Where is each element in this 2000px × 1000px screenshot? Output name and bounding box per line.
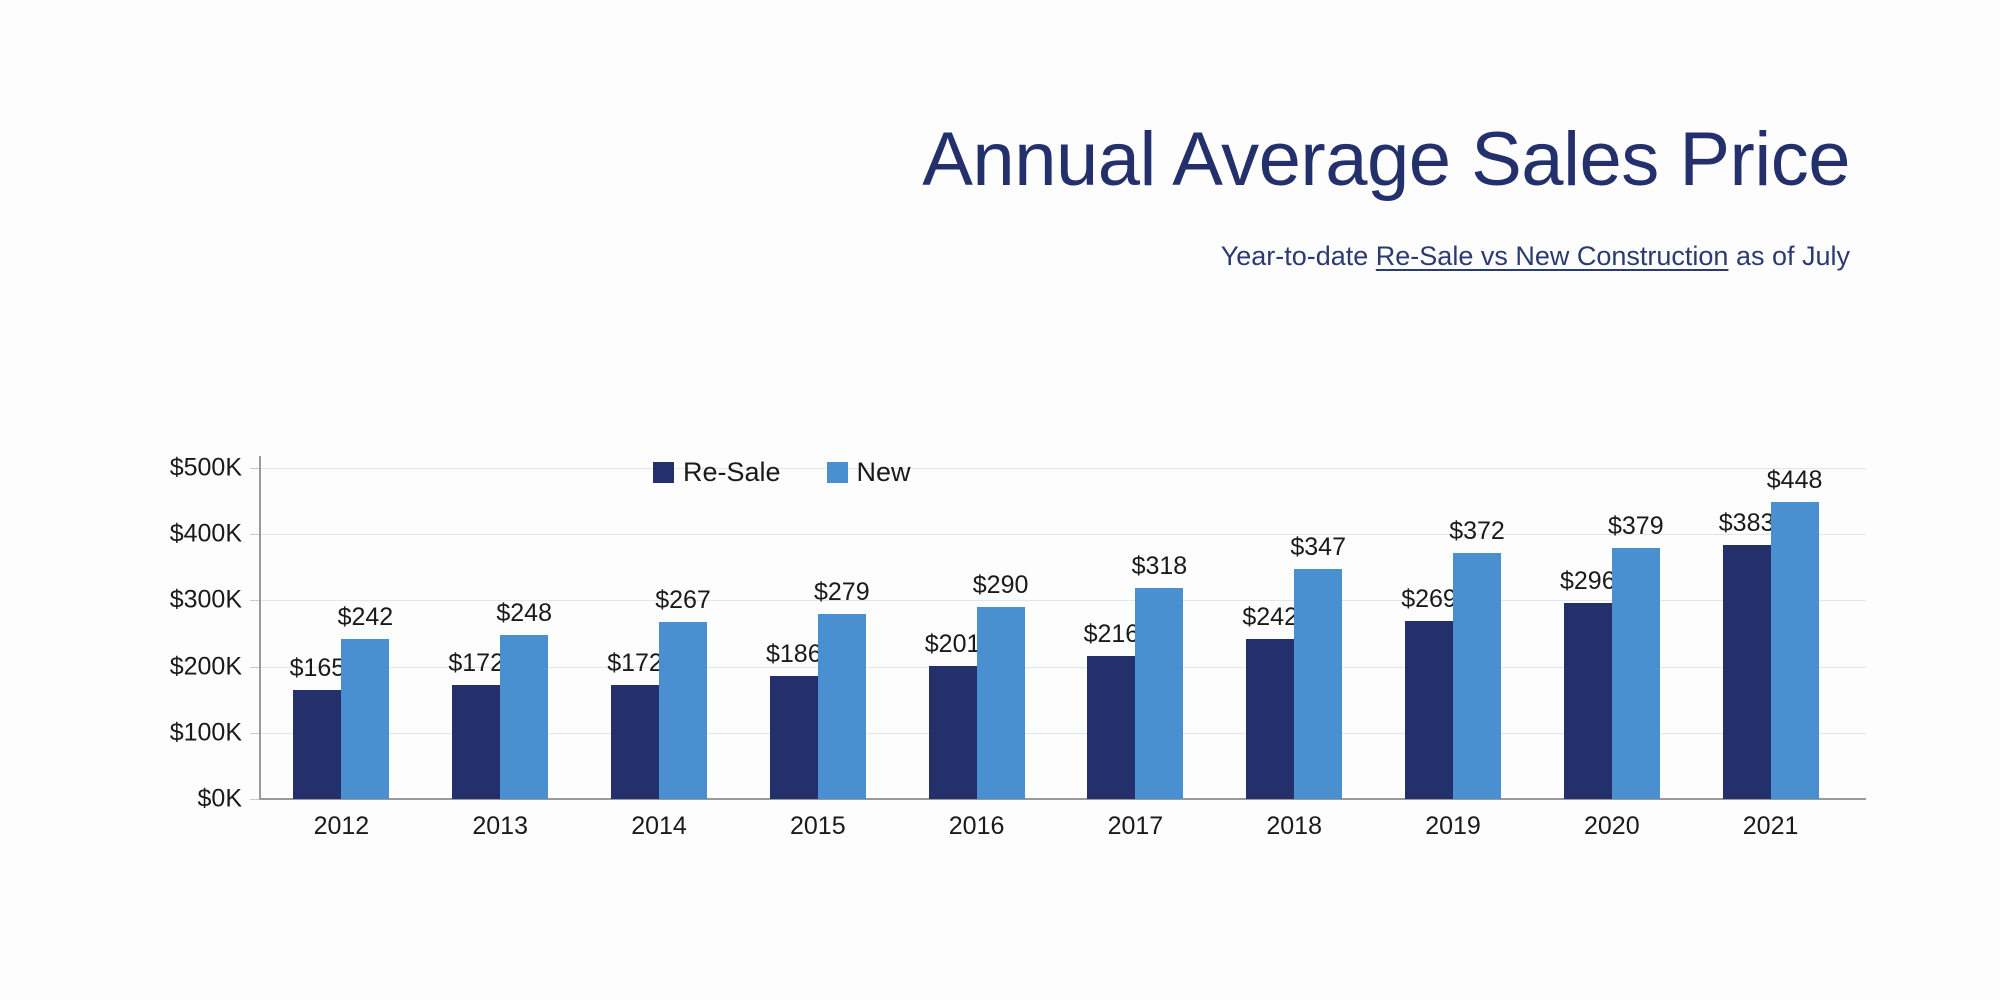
x-axis-tick-label: 2016: [949, 812, 1005, 841]
bar-resale-2012[interactable]: [293, 690, 341, 799]
x-axis-labels: 2012201320142015201620172018201920202021: [260, 812, 1848, 852]
y-axis-tick-label: $100K: [130, 718, 242, 747]
bar-value-label: $165: [290, 654, 346, 683]
bar-new-2018[interactable]: [1294, 569, 1342, 799]
square-swatch-icon: [827, 462, 848, 483]
y-axis-tick-label: $500K: [130, 454, 242, 483]
bar-value-label: $448: [1767, 466, 1823, 495]
x-axis-tick-label: 2012: [314, 812, 370, 841]
legend-item-label: Re-Sale: [683, 459, 781, 486]
bar-value-label: $267: [655, 586, 711, 615]
bar-new-2015[interactable]: [818, 614, 866, 799]
bar-new-2019[interactable]: [1453, 553, 1501, 799]
chart-legend: Re-SaleNew: [653, 459, 911, 486]
bar-value-label: $248: [496, 599, 552, 628]
bar-group-container: $165$242$172$248$172$267$186$279$201$290…: [260, 468, 1848, 799]
x-axis-tick-label: 2018: [1266, 812, 1322, 841]
bar-value-label: $172: [607, 649, 663, 678]
bar-resale-2015[interactable]: [770, 676, 818, 799]
square-swatch-icon: [653, 462, 674, 483]
bar-value-label: $296: [1560, 567, 1616, 596]
bar-value-label: $372: [1449, 517, 1505, 546]
legend-item-resale[interactable]: Re-Sale: [653, 459, 781, 486]
bar-resale-2016[interactable]: [929, 666, 977, 799]
bar-new-2021[interactable]: [1771, 502, 1819, 799]
bar-value-label: $242: [338, 603, 394, 632]
bar-resale-2020[interactable]: [1564, 603, 1612, 799]
bar-resale-2017[interactable]: [1087, 656, 1135, 799]
bar-new-2016[interactable]: [977, 607, 1025, 799]
bar-resale-2018[interactable]: [1246, 639, 1294, 799]
bar-resale-2013[interactable]: [452, 685, 500, 799]
y-axis-tick-label: $400K: [130, 520, 242, 549]
legend-item-label: New: [857, 459, 911, 486]
chart-page: Annual Average Sales Price Year-to-date …: [0, 0, 2000, 1000]
bar-new-2014[interactable]: [659, 622, 707, 799]
bar-value-label: $216: [1084, 620, 1140, 649]
x-axis-tick-label: 2021: [1743, 812, 1799, 841]
bar-chart: $0K$100K$200K$300K$400K$500K $165$242$17…: [0, 0, 2000, 1000]
x-axis-tick-label: 2019: [1425, 812, 1481, 841]
bar-resale-2019[interactable]: [1405, 621, 1453, 799]
bar-value-label: $279: [814, 578, 870, 607]
bar-value-label: $379: [1608, 512, 1664, 541]
bar-resale-2021[interactable]: [1723, 545, 1771, 799]
legend-item-new[interactable]: New: [827, 459, 911, 486]
bar-value-label: $172: [448, 649, 504, 678]
bar-value-label: $383: [1719, 509, 1775, 538]
bar-new-2012[interactable]: [341, 639, 389, 799]
y-axis-tick-label: $300K: [130, 586, 242, 615]
bar-value-label: $347: [1290, 533, 1346, 562]
bar-value-label: $290: [973, 571, 1029, 600]
x-axis-tick-label: 2020: [1584, 812, 1640, 841]
bar-value-label: $201: [925, 630, 981, 659]
bar-resale-2014[interactable]: [611, 685, 659, 799]
y-axis-tick-label: $200K: [130, 652, 242, 681]
bar-value-label: $242: [1242, 603, 1298, 632]
bar-value-label: $269: [1401, 585, 1457, 614]
bar-new-2020[interactable]: [1612, 548, 1660, 799]
y-axis-tick-label: $0K: [130, 785, 242, 814]
bar-value-label: $318: [1132, 552, 1188, 581]
bar-new-2017[interactable]: [1135, 588, 1183, 799]
x-axis-tick-label: 2013: [472, 812, 528, 841]
x-axis-tick-label: 2015: [790, 812, 846, 841]
bar-value-label: $186: [766, 640, 822, 669]
bar-new-2013[interactable]: [500, 635, 548, 799]
x-axis-tick-label: 2014: [631, 812, 687, 841]
x-axis-tick-label: 2017: [1108, 812, 1164, 841]
